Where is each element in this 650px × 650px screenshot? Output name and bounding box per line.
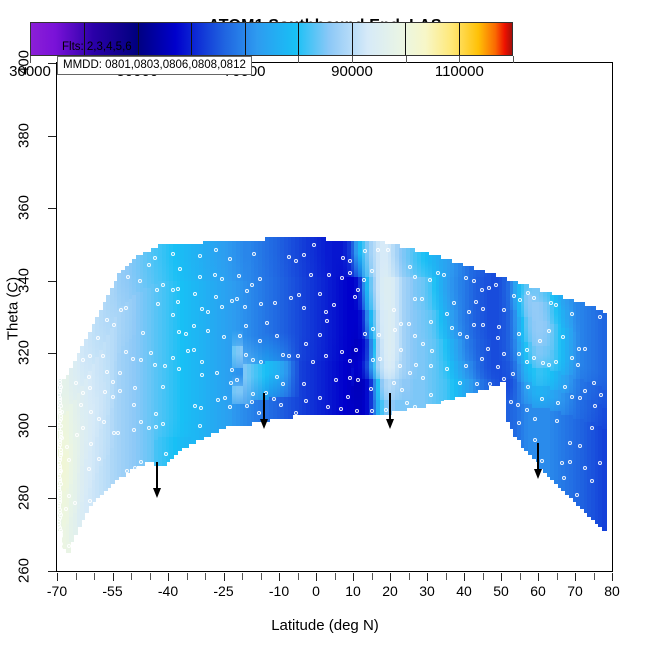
observation-point <box>302 253 306 257</box>
observation-point <box>356 378 360 382</box>
mmdd-legend-box: MMDD: 0801,0803,0806,0808,0812 <box>57 56 252 75</box>
observation-point <box>533 438 537 442</box>
x-axis-tick <box>501 573 502 581</box>
observation-point <box>348 271 352 275</box>
observation-point <box>228 405 232 409</box>
observation-point <box>325 319 329 323</box>
observation-point <box>408 371 412 375</box>
observation-point <box>475 382 479 386</box>
observation-point <box>228 257 232 261</box>
x-axis-label: Latitude (deg N) <box>0 617 650 634</box>
observation-point <box>480 357 484 361</box>
observation-point <box>512 294 516 298</box>
observation-point <box>171 252 175 256</box>
observation-point <box>578 444 582 448</box>
observation-point <box>88 499 92 503</box>
observation-point <box>590 426 594 430</box>
observation-point <box>511 372 515 376</box>
observation-point <box>334 378 338 382</box>
observation-point <box>139 358 143 362</box>
observation-point <box>554 360 558 364</box>
observation-point <box>370 409 374 413</box>
x-axis-tick <box>353 573 354 581</box>
x-axis-tick <box>205 573 206 580</box>
observation-point <box>67 494 71 498</box>
observation-point <box>371 327 375 331</box>
observation-point <box>363 249 367 253</box>
x-axis-tick <box>483 573 484 580</box>
y-axis-tick-label: 320 <box>16 331 33 375</box>
observation-point <box>193 404 197 408</box>
x-axis-tick <box>150 573 151 580</box>
observation-point <box>132 428 136 432</box>
colorbar-separator <box>191 23 192 55</box>
x-axis-tick <box>427 573 428 581</box>
observation-point <box>154 425 158 429</box>
observation-point <box>275 334 279 338</box>
observation-point <box>467 310 471 314</box>
colorbar-tick <box>406 56 407 63</box>
observation-point <box>119 308 123 312</box>
x-axis-tick <box>242 573 243 580</box>
x-axis-tick <box>113 573 114 581</box>
observation-point <box>547 329 551 333</box>
observation-point <box>200 307 204 311</box>
colorbar-separator <box>352 23 353 55</box>
observation-point <box>348 359 352 363</box>
observation-point <box>67 458 71 462</box>
observation-point <box>386 248 390 252</box>
observation-point <box>79 403 83 407</box>
observation-point <box>518 298 522 302</box>
observation-point <box>318 292 322 296</box>
observation-point <box>112 323 116 327</box>
observation-point <box>363 332 367 336</box>
heatmap-column <box>602 63 607 571</box>
observation-point <box>538 339 542 343</box>
observation-point <box>75 433 79 437</box>
observation-point <box>250 400 254 404</box>
x-axis-tick <box>187 573 188 580</box>
observation-point <box>497 325 501 329</box>
observation-point <box>526 291 530 295</box>
colorbar-separator <box>459 23 460 55</box>
observation-point <box>223 396 227 400</box>
observation-point <box>502 377 506 381</box>
observation-point <box>378 357 382 361</box>
y-axis-tick <box>48 498 56 499</box>
observation-point <box>251 392 255 396</box>
observation-point <box>332 303 336 307</box>
observation-point <box>156 302 160 306</box>
observation-point <box>214 295 218 299</box>
y-axis-tick <box>48 136 56 137</box>
observation-point <box>272 397 276 401</box>
x-axis-tick-label: -70 <box>34 583 80 599</box>
observation-point <box>354 348 358 352</box>
observation-point <box>237 274 241 278</box>
observation-point <box>164 452 168 456</box>
observation-point <box>592 381 596 385</box>
x-axis-tick <box>131 573 132 580</box>
descent-marker-2 <box>260 393 268 429</box>
observation-point <box>230 368 234 372</box>
descent-marker-4 <box>534 443 542 479</box>
heatmap-cell <box>602 342 607 367</box>
x-axis-tick <box>335 573 336 580</box>
observation-point <box>541 361 545 365</box>
observation-point <box>245 404 249 408</box>
y-axis-tick-label: 380 <box>16 113 33 157</box>
observation-point <box>124 350 128 354</box>
observation-point <box>177 367 181 371</box>
observation-point <box>147 263 151 267</box>
observation-point <box>88 386 92 390</box>
arrow-head <box>260 419 268 429</box>
observation-point <box>198 254 202 258</box>
x-axis-tick <box>372 573 373 580</box>
observation-point <box>481 307 485 311</box>
y-axis-tick <box>48 208 56 209</box>
observation-point <box>348 259 352 263</box>
observation-point <box>102 420 106 424</box>
x-axis-tick-label: -55 <box>90 583 136 599</box>
observation-point <box>436 271 440 275</box>
observation-point <box>235 378 239 382</box>
colorbar-tick-label: 110000 <box>414 63 504 80</box>
colorbar-separator <box>245 23 246 55</box>
observation-point <box>238 334 242 338</box>
arrow-head <box>534 469 542 479</box>
y-axis-tick <box>48 571 56 572</box>
y-axis-tick-label: 360 <box>16 186 33 230</box>
y-axis-tick <box>48 281 56 282</box>
observation-point <box>549 301 553 305</box>
observation-point <box>576 363 580 367</box>
observation-point <box>556 401 560 405</box>
arrow-shaft <box>263 393 265 419</box>
observation-point <box>171 288 175 292</box>
observation-point <box>413 297 417 301</box>
descent-marker-3 <box>386 393 394 429</box>
observation-point <box>105 370 109 374</box>
x-axis-tick <box>76 573 77 580</box>
heatmap-cell <box>602 390 607 408</box>
observation-point <box>259 360 263 364</box>
y-axis-tick-label: 340 <box>16 258 33 302</box>
x-axis-tick <box>279 573 280 581</box>
observation-point <box>206 310 210 314</box>
colorbar-separator <box>405 23 406 55</box>
x-axis-tick-label: 80 <box>589 583 635 599</box>
plot-root: ATOM1 Southbound End_LAS Flts: 2,3,4,5,6… <box>0 0 650 650</box>
observation-point <box>393 328 397 332</box>
observation-point <box>81 426 85 430</box>
observation-point <box>258 339 262 343</box>
x-axis-tick <box>557 573 558 580</box>
x-axis-tick <box>446 573 447 580</box>
observation-point <box>494 283 498 287</box>
observation-point <box>488 382 492 386</box>
observation-point <box>281 382 285 386</box>
observation-point <box>509 400 513 404</box>
y-axis-tick-label: 300 <box>16 403 33 447</box>
observation-point <box>340 350 344 354</box>
observation-point <box>176 300 180 304</box>
colorbar-tick <box>513 56 514 63</box>
observation-point <box>133 386 137 390</box>
arrow-head <box>386 419 394 429</box>
observation-point <box>458 332 462 336</box>
observation-point <box>430 349 434 353</box>
heatmap-cell <box>602 368 607 390</box>
observation-point <box>474 300 478 304</box>
observation-point <box>346 395 350 399</box>
observation-point <box>318 333 322 337</box>
observation-point <box>186 349 190 353</box>
plot-frame <box>56 62 613 572</box>
x-axis-tick <box>409 573 410 580</box>
x-axis-tick <box>261 573 262 580</box>
observation-point <box>124 306 128 310</box>
heatmap-cell <box>602 429 607 531</box>
observation-point <box>139 460 143 464</box>
x-axis-tick <box>316 573 317 581</box>
observation-point <box>399 348 403 352</box>
observation-point <box>458 381 462 385</box>
observation-point <box>141 331 145 335</box>
x-axis-tick <box>520 573 521 580</box>
observation-point <box>502 352 506 356</box>
colorbar-tick <box>459 56 460 63</box>
observation-point <box>309 273 313 277</box>
x-axis-tick <box>57 573 58 581</box>
colorbar-separator <box>138 23 139 55</box>
observation-point <box>355 409 359 413</box>
observation-point <box>356 288 360 292</box>
observation-point <box>525 408 529 412</box>
observation-point <box>213 273 217 277</box>
observation-point <box>563 385 567 389</box>
plot-canvas <box>57 63 612 571</box>
colorbar-tick <box>352 56 353 63</box>
observation-point <box>532 296 536 300</box>
observation-point <box>105 318 109 322</box>
descent-marker-1 <box>153 462 161 498</box>
colorbar-tick <box>30 56 31 63</box>
observation-point <box>206 329 210 333</box>
x-axis-tick-label: -40 <box>145 583 191 599</box>
observation-point <box>555 419 559 423</box>
observation-point <box>200 373 204 377</box>
x-axis-tick <box>390 573 391 581</box>
observation-point <box>287 354 291 358</box>
observation-point <box>147 426 151 430</box>
observation-point <box>229 381 233 385</box>
x-axis-tick <box>224 573 225 581</box>
observation-point <box>341 256 345 260</box>
observation-point <box>445 367 449 371</box>
colorbar-tick <box>298 56 299 63</box>
observation-point <box>198 275 202 279</box>
observation-point <box>258 277 262 281</box>
observation-point <box>112 431 116 435</box>
heatmap-cell <box>602 313 607 324</box>
arrow-shaft <box>537 443 539 469</box>
observation-point <box>413 405 417 409</box>
observation-point <box>177 330 181 334</box>
observation-point <box>428 278 432 282</box>
arrow-shaft <box>156 462 158 488</box>
colorbar-tick-label: 90000 <box>307 63 397 80</box>
observation-point <box>216 398 220 402</box>
observation-point <box>407 322 411 326</box>
observation-point <box>526 385 530 389</box>
x-axis-tick <box>464 573 465 581</box>
y-axis-tick <box>48 353 56 354</box>
observation-point <box>251 358 255 362</box>
observation-point <box>132 403 136 407</box>
observation-point <box>312 243 316 247</box>
arrow-head <box>153 488 161 498</box>
observation-point <box>58 367 62 371</box>
observation-point <box>400 388 404 392</box>
x-axis-tick <box>575 573 576 581</box>
x-axis-tick <box>612 573 613 581</box>
x-axis-tick <box>94 573 95 580</box>
heatmap-cell <box>602 408 607 430</box>
observation-point <box>398 364 402 368</box>
observation-point <box>399 322 403 326</box>
y-axis-tick-label: 260 <box>16 549 33 593</box>
y-axis-tick <box>48 426 56 427</box>
x-axis-tick-label: -25 <box>201 583 247 599</box>
observation-point <box>74 381 78 385</box>
colorbar-separator <box>298 23 299 55</box>
observation-point <box>445 312 449 316</box>
observation-point <box>245 289 249 293</box>
x-axis-tick <box>538 573 539 581</box>
observation-point <box>294 411 298 415</box>
observation-point <box>339 407 343 411</box>
observation-point <box>275 375 279 379</box>
x-axis-tick <box>594 573 595 580</box>
observation-point <box>97 417 101 421</box>
x-axis-tick <box>168 573 169 581</box>
observation-point <box>259 302 263 306</box>
y-axis-tick-label: 280 <box>16 476 33 520</box>
observation-point <box>184 332 188 336</box>
observation-point <box>502 308 506 312</box>
observation-point <box>214 248 218 252</box>
observation-point <box>570 356 574 360</box>
x-axis-tick <box>298 573 299 580</box>
observation-point <box>517 421 521 425</box>
heatmap-cell <box>602 324 607 342</box>
arrow-shaft <box>389 393 391 419</box>
observation-point <box>287 255 291 259</box>
observation-point <box>414 363 418 367</box>
flights-annotation: Flts: 2,3,4,5,6 <box>62 41 132 53</box>
